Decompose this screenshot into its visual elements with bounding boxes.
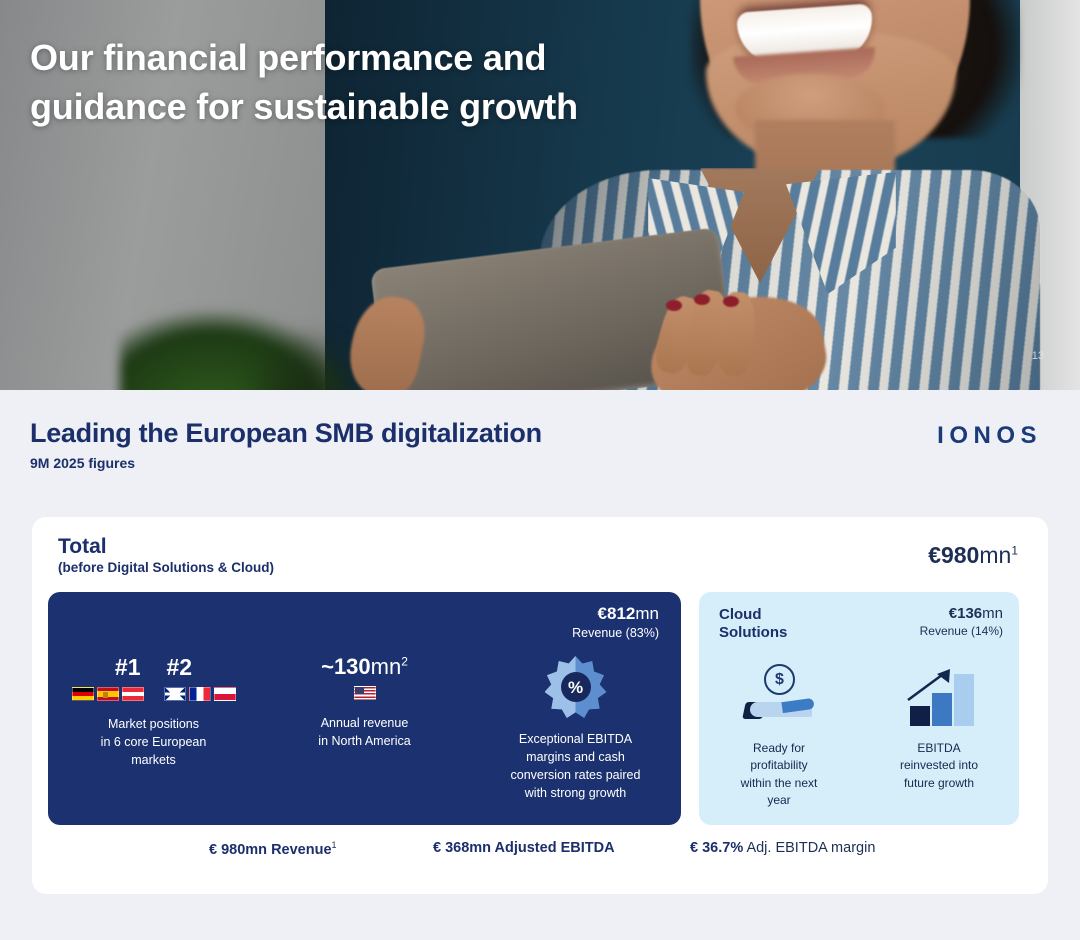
cloud-solutions-title-line-2: Solutions (719, 624, 787, 642)
dark-panel-value: €812mn Revenue (83%) (572, 604, 659, 640)
caption-line: in North America (259, 732, 470, 750)
total-revenue-panel: €812mn Revenue (83%) #1 #2 (48, 592, 681, 825)
fingernail (723, 296, 739, 307)
cloud-panel-value: €136mn Revenue (14%) (920, 605, 1003, 638)
hero-title-line-1: Our financial performance and (30, 34, 578, 83)
caption-line: margins and cash (470, 748, 681, 766)
caption-line: within the next (699, 775, 859, 792)
badge-wrapper: % (470, 656, 681, 718)
caption-line: EBITDA (859, 740, 1019, 757)
caption-line: year (699, 792, 859, 809)
footer-adjusted-ebitda: € 368mn Adjusted EBITDA (433, 840, 615, 856)
caption-line: Exceptional EBITDA (470, 730, 681, 748)
flag-row (48, 687, 259, 701)
footer-revenue-label: € 980mn Revenue (209, 842, 332, 858)
north-america-unit: mn (371, 654, 402, 679)
total-value: €980mn1 (928, 542, 1018, 569)
total-value-unit: mn (979, 542, 1011, 568)
caption-line: profitability (699, 757, 859, 774)
page-subtitle: 9M 2025 figures (30, 455, 1050, 471)
coin-glyph: $ (764, 664, 795, 695)
flag-row-usa (259, 686, 470, 700)
united-kingdom-flag-icon (164, 687, 186, 701)
flag-group-rank-1 (72, 687, 144, 701)
page-number: 13 (1032, 350, 1044, 362)
ionos-logo: IONOS (937, 422, 1042, 450)
card-header: Total (before Digital Solutions & Cloud)… (32, 517, 1048, 589)
fingernail (694, 294, 710, 305)
hero-banner: Our financial performance and guidance f… (0, 0, 1080, 390)
cloud-solutions-title: Cloud Solutions (719, 606, 787, 642)
rank-1: #1 (115, 654, 141, 681)
cloud-panel-items: $ Ready for profitability within the nex… (699, 664, 1019, 810)
metric-profitability: $ Ready for profitability within the nex… (699, 664, 859, 810)
page-title: Leading the European SMB digitalization (30, 418, 1050, 449)
cloud-panel-amount-unit: mn (982, 605, 1003, 622)
dark-panel-amount-unit: mn (635, 604, 659, 623)
card-footer: € 980mn Revenue1 € 368mn Adjusted EBITDA… (48, 840, 1048, 870)
total-label: Total (58, 535, 1022, 558)
total-sublabel: (before Digital Solutions & Cloud) (58, 560, 1022, 575)
footer-revenue: € 980mn Revenue1 (209, 840, 337, 858)
bar-2 (932, 693, 952, 726)
footer-ebitda-margin: € 36.7% Adj. EBITDA margin (690, 840, 875, 856)
metric-market-positions-caption: Market positions in 6 core European mark… (48, 715, 259, 769)
caption-line: with strong growth (470, 784, 681, 802)
footer-revenue-footnote: 1 (332, 840, 337, 850)
growth-bar-chart-icon (896, 664, 982, 726)
cloud-solutions-panel: Cloud Solutions €136mn Revenue (14%) $ R… (699, 592, 1019, 825)
dark-panel-amount: €812mn (572, 604, 659, 624)
bar-3 (954, 674, 974, 726)
germany-flag-icon (72, 687, 94, 701)
metric-ebitda-margins: % Exceptional EBITDA margins and cash co… (470, 654, 681, 803)
france-flag-icon (189, 687, 211, 701)
caption-line: Annual revenue (259, 714, 470, 732)
caption-line: in 6 core European (48, 733, 259, 751)
metric-north-america-caption: Annual revenue in North America (259, 714, 470, 750)
dark-panel-amount-currency: €812 (598, 604, 636, 623)
metric-ebitda-margins-caption: Exceptional EBITDA margins and cash conv… (470, 730, 681, 803)
percent-glyph: % (561, 672, 591, 702)
austria-flag-icon (122, 687, 144, 701)
footer-ebitda-margin-label: Adj. EBITDA margin (743, 840, 875, 856)
metric-north-america: ~130mn2 Annual revenue in North America (259, 654, 470, 803)
caption-line: future growth (859, 775, 1019, 792)
north-america-amount: ~130 (321, 654, 371, 679)
north-america-footnote: 2 (401, 655, 408, 669)
metric-profitability-caption: Ready for profitability within the next … (699, 740, 859, 810)
spain-flag-icon (97, 687, 119, 701)
hero-title-line-2: guidance for sustainable growth (30, 83, 578, 132)
cloud-panel-amount: €136mn (920, 605, 1003, 622)
caption-line: reinvested into (859, 757, 1019, 774)
dark-panel-items: #1 #2 Market positions in 6 core Europea… (48, 654, 681, 803)
rank-row: #1 #2 (48, 654, 259, 681)
rank-2: #2 (167, 654, 193, 681)
fingernail (666, 300, 682, 311)
total-value-footnote: 1 (1011, 543, 1018, 557)
cloud-panel-amount-currency: €136 (949, 605, 982, 622)
hand-holding-coin-icon: $ (736, 664, 822, 726)
caption-line: Ready for (699, 740, 859, 757)
bar-1 (910, 706, 930, 726)
caption-line: conversion rates paired (470, 766, 681, 784)
usa-flag-icon (354, 686, 376, 700)
cloud-panel-caption: Revenue (14%) (920, 624, 1003, 638)
dark-panel-caption: Revenue (83%) (572, 626, 659, 640)
cloud-solutions-title-line-1: Cloud (719, 606, 787, 624)
flag-group-rank-2 (164, 687, 236, 701)
footer-ebitda-margin-value: € 36.7% (690, 840, 743, 856)
metric-reinvestment-caption: EBITDA reinvested into future growth (859, 740, 1019, 792)
percent-badge-icon: % (545, 656, 607, 718)
total-value-currency: €980 (928, 542, 979, 568)
caption-line: markets (48, 751, 259, 769)
poland-flag-icon (214, 687, 236, 701)
caption-line: Market positions (48, 715, 259, 733)
north-america-value: ~130mn2 (259, 654, 470, 680)
section-header: Leading the European SMB digitalization … (0, 390, 1080, 517)
metric-reinvestment: EBITDA reinvested into future growth (859, 664, 1019, 810)
metric-market-positions: #1 #2 Market positions in 6 core Europea… (48, 654, 259, 803)
hero-title: Our financial performance and guidance f… (30, 34, 578, 132)
